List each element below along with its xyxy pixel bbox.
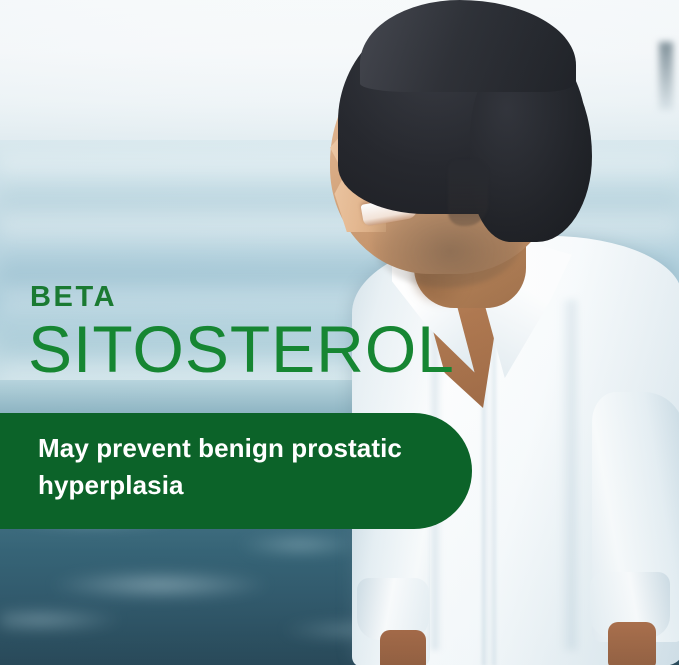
sideburn [448, 160, 488, 226]
product-hero-banner: BETA SITOSTEROL May prevent benign prost… [0, 0, 679, 665]
left-forearm [380, 630, 426, 665]
shirt-fold-right [560, 300, 576, 650]
wordmark-sitosterol: SITOSTEROL [28, 316, 455, 382]
claim-text: May prevent benign prostatic hyperplasia [38, 430, 458, 504]
kicker-beta: BETA [30, 283, 117, 312]
hair-sweep [360, 0, 576, 92]
right-forearm [608, 622, 656, 665]
